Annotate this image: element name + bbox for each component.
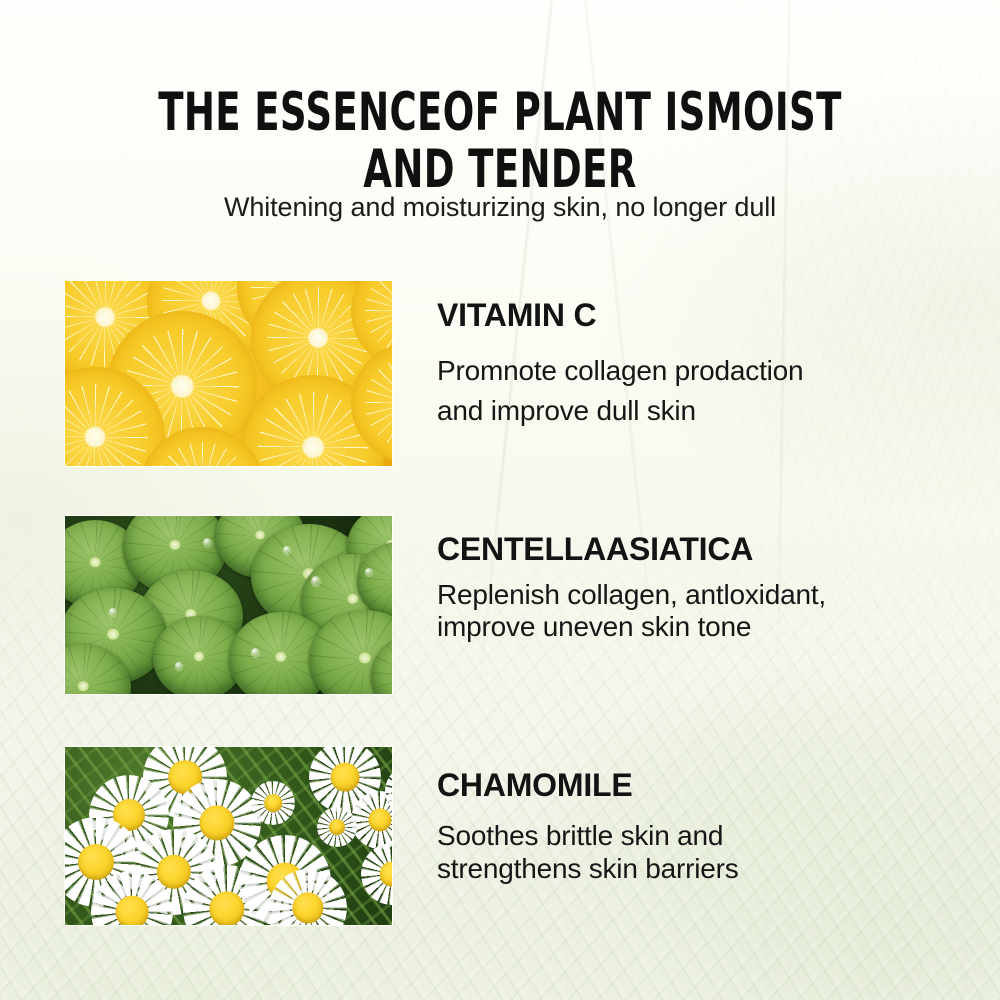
headline-line-1: THE ESSENCEOF PLANT ISMOIST (150, 84, 850, 141)
ingredient-desc-line-2: strengthens skin barriers (437, 852, 957, 885)
ingredient-title: VITAMIN C (437, 297, 957, 333)
page-title: THE ESSENCEOF PLANT ISMOIST AND TENDER (0, 84, 1000, 198)
ingredient-description: Soothes brittle skin and strengthens ski… (437, 819, 957, 885)
orange-slices-photo (65, 281, 392, 466)
ingredient-description: Promnote collagen prodaction and improve… (437, 351, 957, 431)
ingredient-copy-centella-asiatica: CENTELLAASIATICA Replenish collagen, ant… (437, 531, 957, 643)
centella-leaves-photo (65, 516, 392, 694)
ingredient-copy-vitamin-c: VITAMIN C Promnote collagen prodaction a… (437, 297, 957, 431)
ingredient-title: CHAMOMILE (437, 767, 957, 803)
ingredient-desc-line-2: improve uneven skin tone (437, 611, 957, 643)
ingredient-desc-line-1: Promnote collagen prodaction (437, 351, 957, 391)
ingredient-desc-line-1: Soothes brittle skin and (437, 819, 957, 852)
chamomile-flowers-art (65, 747, 392, 925)
orange-slices-art (65, 281, 392, 466)
ingredient-copy-chamomile: CHAMOMILE Soothes brittle skin and stren… (437, 767, 957, 885)
headline-line-2: AND TENDER (150, 141, 850, 198)
ingredient-desc-line-1: Replenish collagen, antloxidant, (437, 579, 957, 611)
chamomile-flowers-photo (65, 747, 392, 925)
page-subtitle: Whitening and moisturizing skin, no long… (0, 192, 1000, 223)
ingredient-description: Replenish collagen, antloxidant, improve… (437, 579, 957, 643)
centella-leaves-art (65, 516, 392, 694)
ingredient-desc-line-2: and improve dull skin (437, 391, 957, 431)
ingredient-title: CENTELLAASIATICA (437, 531, 957, 567)
product-ingredient-poster: THE ESSENCEOF PLANT ISMOIST AND TENDER W… (0, 0, 1000, 1000)
